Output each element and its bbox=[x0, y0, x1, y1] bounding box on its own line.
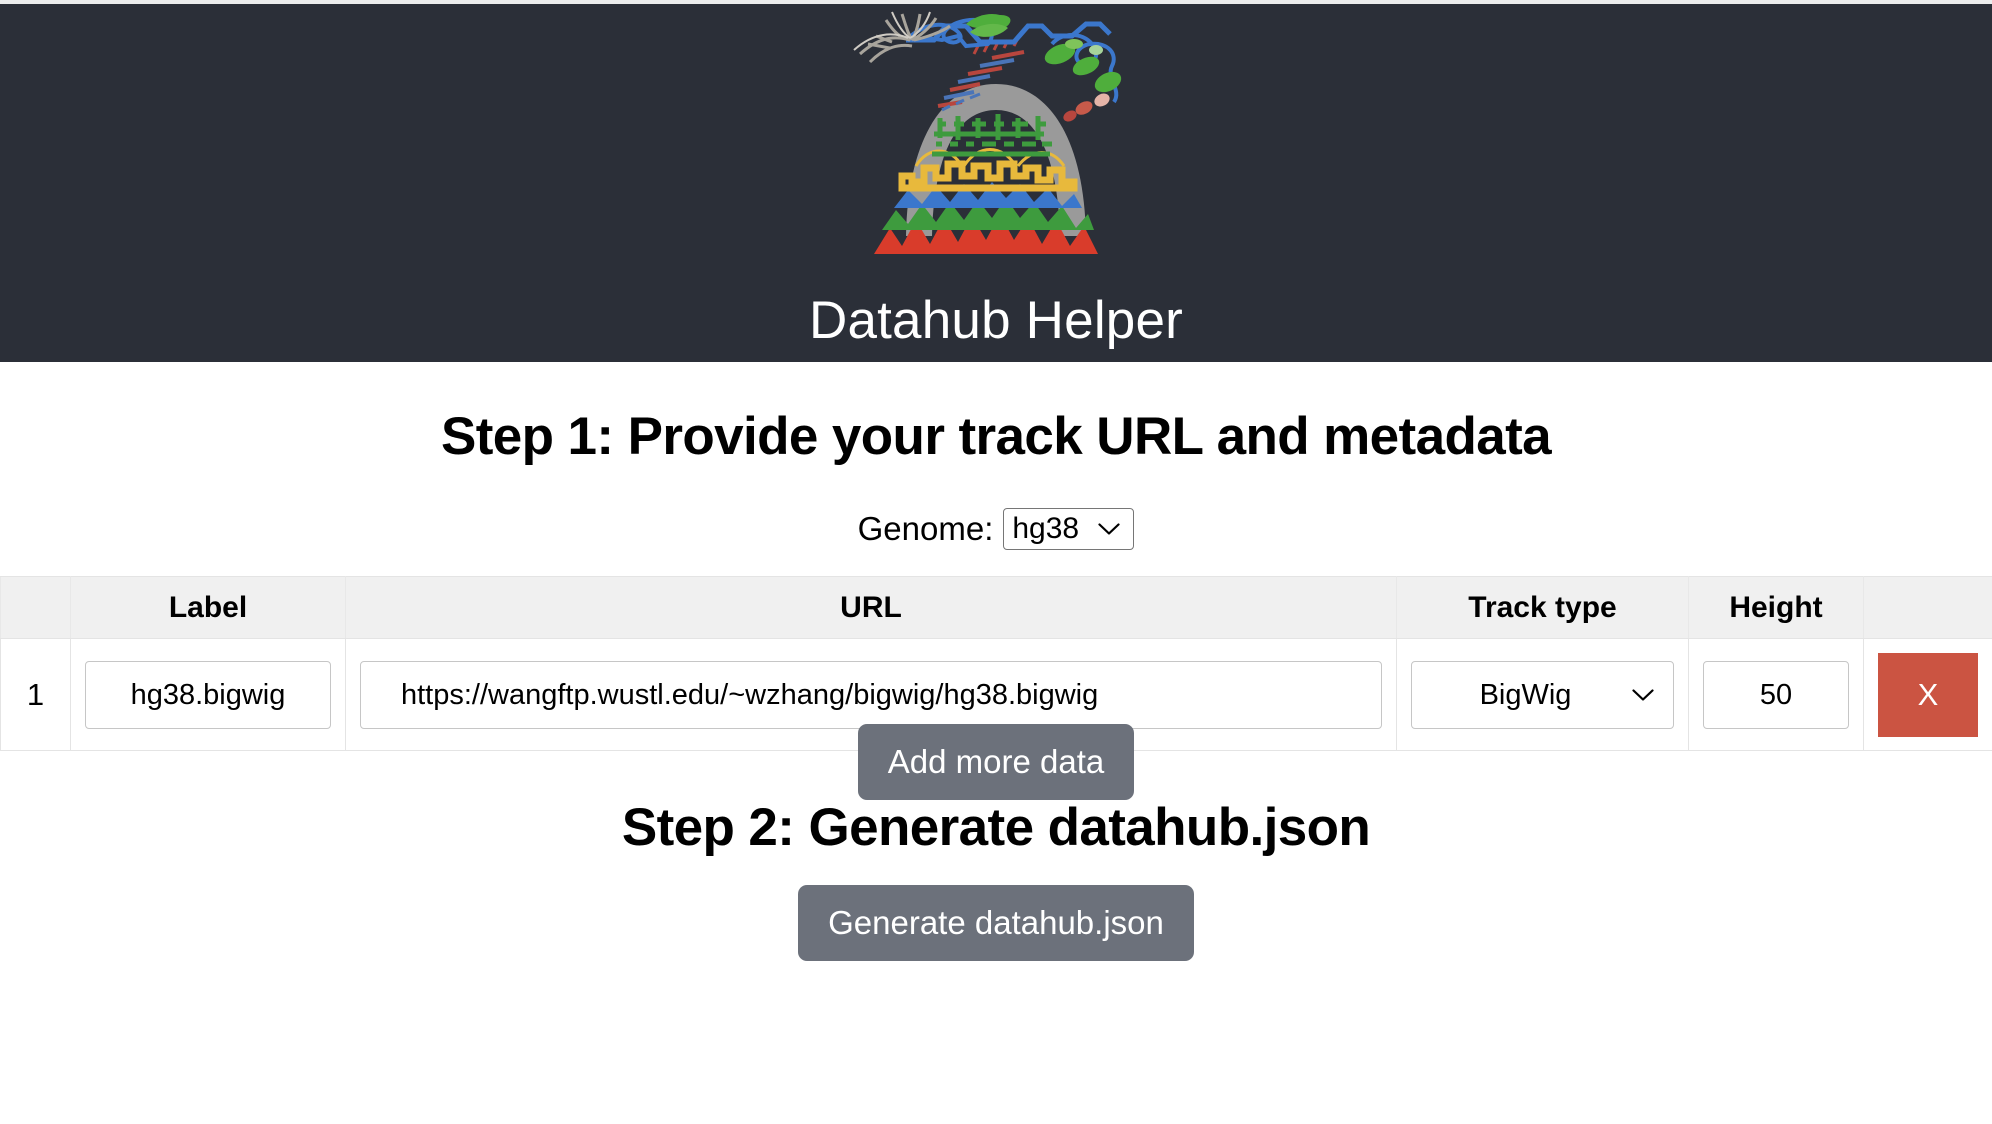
washu-epigenome-browser-arch-logo bbox=[846, 6, 1146, 294]
track-url-input[interactable] bbox=[360, 661, 1382, 729]
genome-select-wrapper[interactable]: hg38 bbox=[1003, 508, 1134, 550]
column-header-track-type: Track type bbox=[1397, 577, 1689, 639]
column-header-label: Label bbox=[71, 577, 346, 639]
genome-select[interactable]: hg38 bbox=[1003, 508, 1134, 550]
delete-row-button[interactable]: X bbox=[1878, 653, 1978, 737]
genome-selector-row: Genome: hg38 bbox=[0, 508, 1992, 550]
track-label-input[interactable] bbox=[85, 661, 331, 729]
track-type-cell: BigWig bbox=[1397, 639, 1689, 751]
column-header-url: URL bbox=[346, 577, 1397, 639]
main-content: Step 1: Provide your track URL and metad… bbox=[0, 406, 1992, 961]
step1-heading: Step 1: Provide your track URL and metad… bbox=[0, 406, 1992, 468]
row-number: 1 bbox=[1, 639, 71, 751]
height-cell bbox=[1689, 639, 1864, 751]
generate-datahub-json-button[interactable]: Generate datahub.json bbox=[798, 885, 1194, 961]
page-root: Datahub Helper Step 1: Provide your trac… bbox=[0, 0, 1992, 1124]
track-height-input[interactable] bbox=[1703, 661, 1849, 729]
track-type-select[interactable]: BigWig bbox=[1411, 661, 1674, 729]
label-cell bbox=[71, 639, 346, 751]
page-title: Datahub Helper bbox=[809, 290, 1183, 352]
delete-cell: X bbox=[1864, 639, 1992, 751]
add-more-data-button[interactable]: Add more data bbox=[858, 724, 1134, 800]
column-header-height: Height bbox=[1689, 577, 1864, 639]
column-header-rownum bbox=[1, 577, 71, 639]
genome-label: Genome: bbox=[858, 510, 994, 548]
column-header-delete bbox=[1864, 577, 1992, 639]
step2-heading: Step 2: Generate datahub.json bbox=[0, 797, 1992, 859]
page-banner: Datahub Helper bbox=[0, 4, 1992, 362]
tracks-table-header-row: Label URL Track type Height bbox=[1, 577, 1992, 639]
track-type-select-wrapper[interactable]: BigWig bbox=[1411, 661, 1674, 729]
